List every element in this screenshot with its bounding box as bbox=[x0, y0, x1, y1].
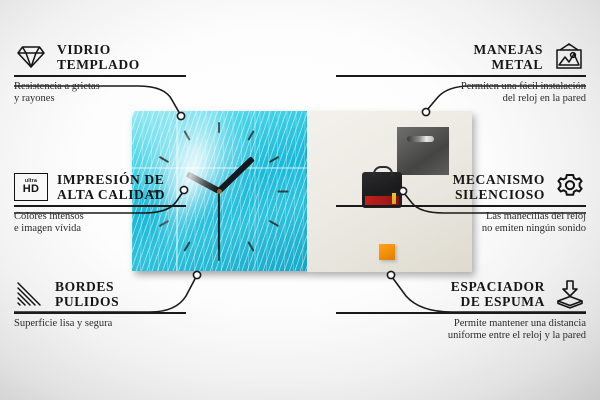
infographic-canvas: VIDRIO TEMPLADO Resistencia a grietas y … bbox=[0, 0, 600, 400]
clock-hour-mark bbox=[183, 241, 190, 252]
ultra-hd-icon-large-text: HD bbox=[23, 184, 40, 195]
ultra-hd-icon: ultra HD bbox=[14, 173, 48, 201]
feature-sub-line2: del reloj en la pared bbox=[336, 93, 586, 105]
feature-title-line2: DE ESPUMA bbox=[336, 294, 545, 309]
feature-espaciador-espuma: ESPACIADOR DE ESPUMA Permite mantener un… bbox=[336, 279, 586, 342]
feature-rule bbox=[14, 205, 186, 207]
clock-hour-mark bbox=[269, 219, 280, 226]
feature-rule bbox=[336, 205, 586, 207]
feature-vidrio-templado: VIDRIO TEMPLADO Resistencia a grietas y … bbox=[14, 42, 264, 105]
feature-sub-line1: Permite mantener una distancia bbox=[336, 318, 586, 330]
feature-title-line2: SILENCIOSO bbox=[336, 187, 545, 202]
feature-rule bbox=[336, 312, 586, 314]
feature-bordes-pulidos: BORDES PULIDOS Superficie lisa y segura bbox=[14, 279, 264, 330]
polished-edges-icon bbox=[14, 281, 46, 307]
clock-hour-mark bbox=[278, 190, 289, 192]
feature-title-line1: BORDES bbox=[55, 279, 119, 294]
clock-hour-mark bbox=[218, 122, 220, 133]
feature-sub-line2: no emiten ningún sonido bbox=[336, 223, 586, 235]
foam-spacer bbox=[379, 244, 395, 260]
feature-sub-line1: Colores intensos bbox=[14, 211, 264, 223]
feature-title-line2: METAL bbox=[336, 57, 543, 72]
feature-title-line2: PULIDOS bbox=[55, 294, 119, 309]
picture-frame-hanging-icon bbox=[552, 42, 586, 72]
feature-title-line1: ESPACIADOR bbox=[336, 279, 545, 294]
feature-sub-line2: e imagen vívida bbox=[14, 223, 264, 235]
gear-icon bbox=[554, 172, 586, 202]
feature-title-line1: MECANISMO bbox=[336, 172, 545, 187]
feature-sub-line2: uniforme entre el reloj y la pared bbox=[336, 330, 586, 342]
feature-sub-line1: Superficie lisa y segura bbox=[14, 318, 264, 330]
clock-hour-mark bbox=[158, 155, 169, 162]
metal-hanger-plate bbox=[397, 127, 449, 175]
clock-hour-mark bbox=[269, 155, 280, 162]
feature-mecanismo-silencioso: MECANISMO SILENCIOSO Las manecillas del … bbox=[336, 172, 586, 235]
feature-title-line1: VIDRIO bbox=[57, 42, 140, 57]
feature-impresion-alta-calidad: ultra HD IMPRESIÓN DE ALTA CALIDAD Color… bbox=[14, 172, 264, 235]
diamond-icon bbox=[14, 44, 48, 70]
clock-hour-mark bbox=[247, 130, 254, 141]
feature-title-line2: ALTA CALIDAD bbox=[57, 187, 165, 202]
feature-rule bbox=[336, 75, 586, 77]
hanger-slot bbox=[407, 136, 434, 142]
feature-sub-line1: Resistencia a grietas bbox=[14, 81, 264, 93]
arrow-down-layers-icon bbox=[554, 279, 586, 309]
feature-rule bbox=[14, 312, 186, 314]
feature-title-line2: TEMPLADO bbox=[57, 57, 140, 72]
feature-title-line1: IMPRESIÓN DE bbox=[57, 172, 165, 187]
feature-manejas-metal: MANEJAS METAL Permiten una fácil instala… bbox=[336, 42, 586, 105]
feature-sub-line1: Permiten una fácil instalación bbox=[336, 81, 586, 93]
clock-hour-mark bbox=[218, 250, 220, 261]
feature-sub-line2: y rayones bbox=[14, 93, 264, 105]
feature-title-line1: MANEJAS bbox=[336, 42, 543, 57]
clock-hour-mark bbox=[183, 130, 190, 141]
feature-rule bbox=[14, 75, 186, 77]
feature-sub-line1: Las manecillas del reloj bbox=[336, 211, 586, 223]
